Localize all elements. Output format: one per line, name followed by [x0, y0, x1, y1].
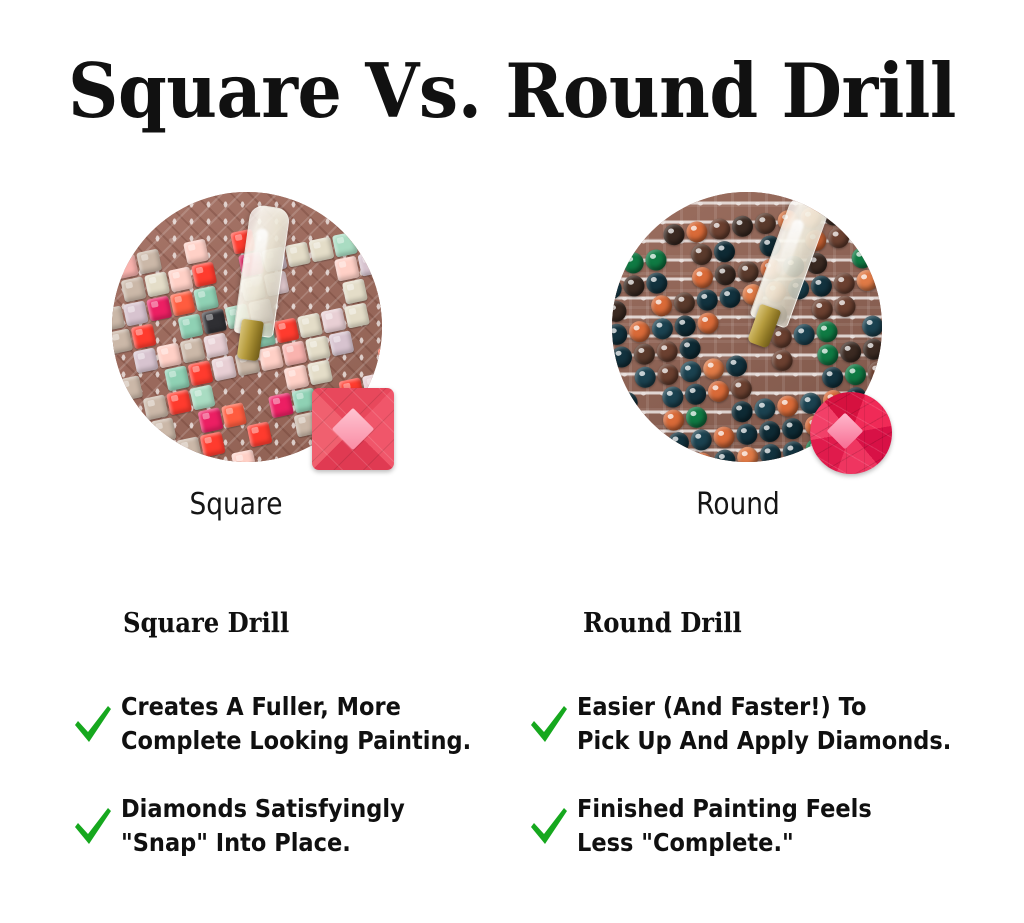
round-bead — [862, 338, 882, 361]
round-bead — [612, 254, 622, 277]
photo-caption-round: Round — [606, 487, 870, 523]
bullet-item: Diamonds Satisfyingly "Snap" Into Place. — [72, 792, 542, 860]
square-bead — [281, 340, 307, 366]
square-bead — [320, 308, 346, 334]
square-bead — [305, 335, 331, 361]
round-bead — [690, 451, 713, 462]
square-bead — [355, 226, 381, 252]
round-bead — [685, 406, 708, 429]
round-bead — [612, 417, 617, 440]
square-bead — [268, 392, 294, 418]
round-bead — [839, 340, 862, 363]
column-heading-square: Square Drill — [123, 608, 289, 640]
square-bead — [334, 256, 360, 282]
round-bead — [759, 443, 782, 462]
round-bead — [714, 263, 737, 286]
square-gem-sample — [312, 388, 394, 470]
round-bead — [753, 397, 776, 420]
round-bead — [651, 317, 674, 340]
round-bead — [855, 269, 878, 292]
round-bead — [850, 223, 873, 246]
pen-glint — [249, 228, 269, 287]
square-bead — [191, 261, 217, 287]
square-bead — [131, 323, 157, 349]
round-bead — [821, 366, 844, 389]
round-bead — [770, 349, 793, 372]
round-bead — [622, 274, 645, 297]
square-bead — [146, 295, 172, 321]
round-bead — [735, 423, 758, 446]
round-bead — [656, 363, 679, 386]
square-bead — [190, 384, 216, 410]
round-bead — [645, 271, 668, 294]
square-bead — [308, 236, 334, 262]
round-bead — [718, 286, 741, 309]
round-bead — [690, 243, 713, 266]
round-bead — [707, 380, 730, 403]
square-bead — [247, 421, 273, 447]
square-bead — [283, 364, 309, 390]
round-bead — [661, 385, 684, 408]
square-bead — [153, 441, 179, 462]
square-bead — [211, 355, 237, 381]
round-bead — [844, 363, 867, 386]
square-bead — [112, 427, 130, 453]
bullet-text: Finished Painting Feels Less "Complete." — [577, 792, 872, 860]
check-icon — [528, 803, 568, 849]
square-photo-block — [100, 192, 430, 492]
square-bead — [203, 332, 229, 358]
square-bead — [347, 204, 373, 230]
round-bead — [679, 360, 702, 383]
square-bead — [285, 241, 311, 267]
square-bead — [170, 290, 196, 316]
square-bead — [164, 365, 190, 391]
square-bead — [297, 312, 323, 338]
round-bead — [621, 251, 644, 274]
square-bead — [273, 317, 299, 343]
round-bead — [628, 320, 651, 343]
round-gem-shape — [810, 392, 892, 474]
round-bead — [612, 394, 616, 417]
bullet-item: Finished Painting Feels Less "Complete." — [528, 792, 998, 860]
round-bead — [662, 223, 685, 246]
round-bead — [731, 215, 754, 238]
round-bead — [713, 448, 736, 462]
square-bead — [377, 344, 382, 370]
bullet-item: Creates A Fuller, More Complete Looking … — [72, 690, 542, 758]
round-bead — [833, 295, 856, 318]
square-bead — [258, 345, 284, 371]
round-bead — [622, 460, 645, 462]
bullet-text: Easier (And Faster!) To Pick Up And Appl… — [577, 690, 951, 758]
round-bead — [754, 212, 777, 235]
square-bead — [344, 303, 370, 329]
square-bead — [112, 451, 132, 462]
round-bead — [616, 414, 639, 437]
square-bead — [188, 360, 214, 386]
square-bead — [156, 342, 182, 368]
round-bead — [712, 425, 735, 448]
round-bead — [832, 272, 855, 295]
square-bead — [121, 276, 147, 302]
round-bead — [736, 260, 759, 283]
square-bead — [178, 313, 204, 339]
check-icon — [528, 701, 568, 747]
square-bead — [123, 300, 149, 326]
square-bead — [357, 251, 382, 277]
square-bead — [113, 254, 139, 280]
round-bead — [633, 366, 656, 389]
square-gem-shape — [312, 388, 394, 470]
round-bead — [684, 383, 707, 406]
square-bead — [221, 402, 247, 428]
square-bead — [136, 249, 162, 275]
square-bead — [166, 389, 192, 415]
round-bead — [861, 314, 882, 337]
square-bead — [342, 278, 368, 304]
round-bead — [644, 248, 667, 271]
round-bead — [792, 323, 815, 346]
round-bead — [678, 337, 701, 360]
round-bead — [810, 274, 833, 297]
square-bead — [143, 394, 169, 420]
square-bead — [144, 271, 170, 297]
square-bead — [112, 328, 133, 354]
square-bead — [201, 308, 227, 334]
round-bead — [873, 243, 882, 266]
round-bead — [713, 240, 736, 263]
square-bead — [180, 337, 206, 363]
check-icon — [72, 803, 112, 849]
round-bead — [782, 440, 805, 462]
round-bead — [667, 431, 690, 454]
round-bead — [696, 311, 719, 334]
square-bead — [231, 449, 257, 462]
square-bead — [168, 266, 194, 292]
round-bead — [662, 408, 685, 431]
round-bead — [736, 446, 759, 462]
square-bead — [200, 431, 226, 457]
square-bead — [197, 407, 223, 433]
square-bead — [328, 330, 354, 356]
round-bead — [612, 277, 623, 300]
round-bead — [650, 294, 673, 317]
square-bead — [112, 404, 122, 430]
round-bead — [815, 320, 838, 343]
round-bead — [621, 437, 644, 460]
round-bead — [667, 454, 690, 462]
round-bead — [696, 288, 719, 311]
square-bead — [176, 436, 202, 462]
bullet-item: Easier (And Faster!) To Pick Up And Appl… — [528, 690, 998, 758]
round-bead — [691, 266, 714, 289]
round-bead — [708, 217, 731, 240]
round-bead — [673, 291, 696, 314]
square-bead — [151, 417, 177, 443]
round-bead — [612, 300, 628, 323]
round-bead — [758, 420, 781, 443]
round-bead — [730, 400, 753, 423]
page-title: Square Vs. Round Drill — [36, 48, 988, 134]
round-bead — [873, 220, 882, 243]
round-bead — [810, 297, 833, 320]
round-bead — [851, 246, 874, 269]
round-bead — [867, 360, 882, 383]
round-bead — [655, 340, 678, 363]
round-bead — [633, 342, 656, 365]
bullet-text: Diamonds Satisfyingly "Snap" Into Place. — [121, 792, 405, 860]
round-bead — [612, 345, 633, 368]
round-bead — [776, 394, 799, 417]
round-bead — [730, 377, 753, 400]
round-bead — [644, 434, 667, 457]
round-bead — [827, 226, 850, 249]
square-bead — [183, 239, 209, 265]
photo-caption-square: Square — [104, 487, 368, 523]
square-bead — [193, 286, 219, 312]
square-bead — [332, 231, 358, 257]
round-bead — [685, 220, 708, 243]
round-bead — [674, 314, 697, 337]
round-bead — [690, 428, 713, 451]
round-bead — [612, 439, 622, 462]
column-heading-round: Round Drill — [583, 608, 742, 640]
square-bead — [307, 359, 333, 385]
round-bead — [702, 357, 725, 380]
square-bead — [117, 375, 143, 401]
square-bead — [133, 347, 159, 373]
round-gem-sample — [810, 392, 892, 474]
check-icon — [72, 701, 112, 747]
bullet-text: Creates A Fuller, More Complete Looking … — [121, 690, 471, 758]
round-bead — [615, 391, 638, 414]
round-bead — [816, 343, 839, 366]
round-bead — [612, 231, 617, 254]
round-bead — [725, 354, 748, 377]
round-photo-block — [600, 192, 930, 492]
round-bead — [612, 323, 628, 346]
round-bead — [781, 417, 804, 440]
